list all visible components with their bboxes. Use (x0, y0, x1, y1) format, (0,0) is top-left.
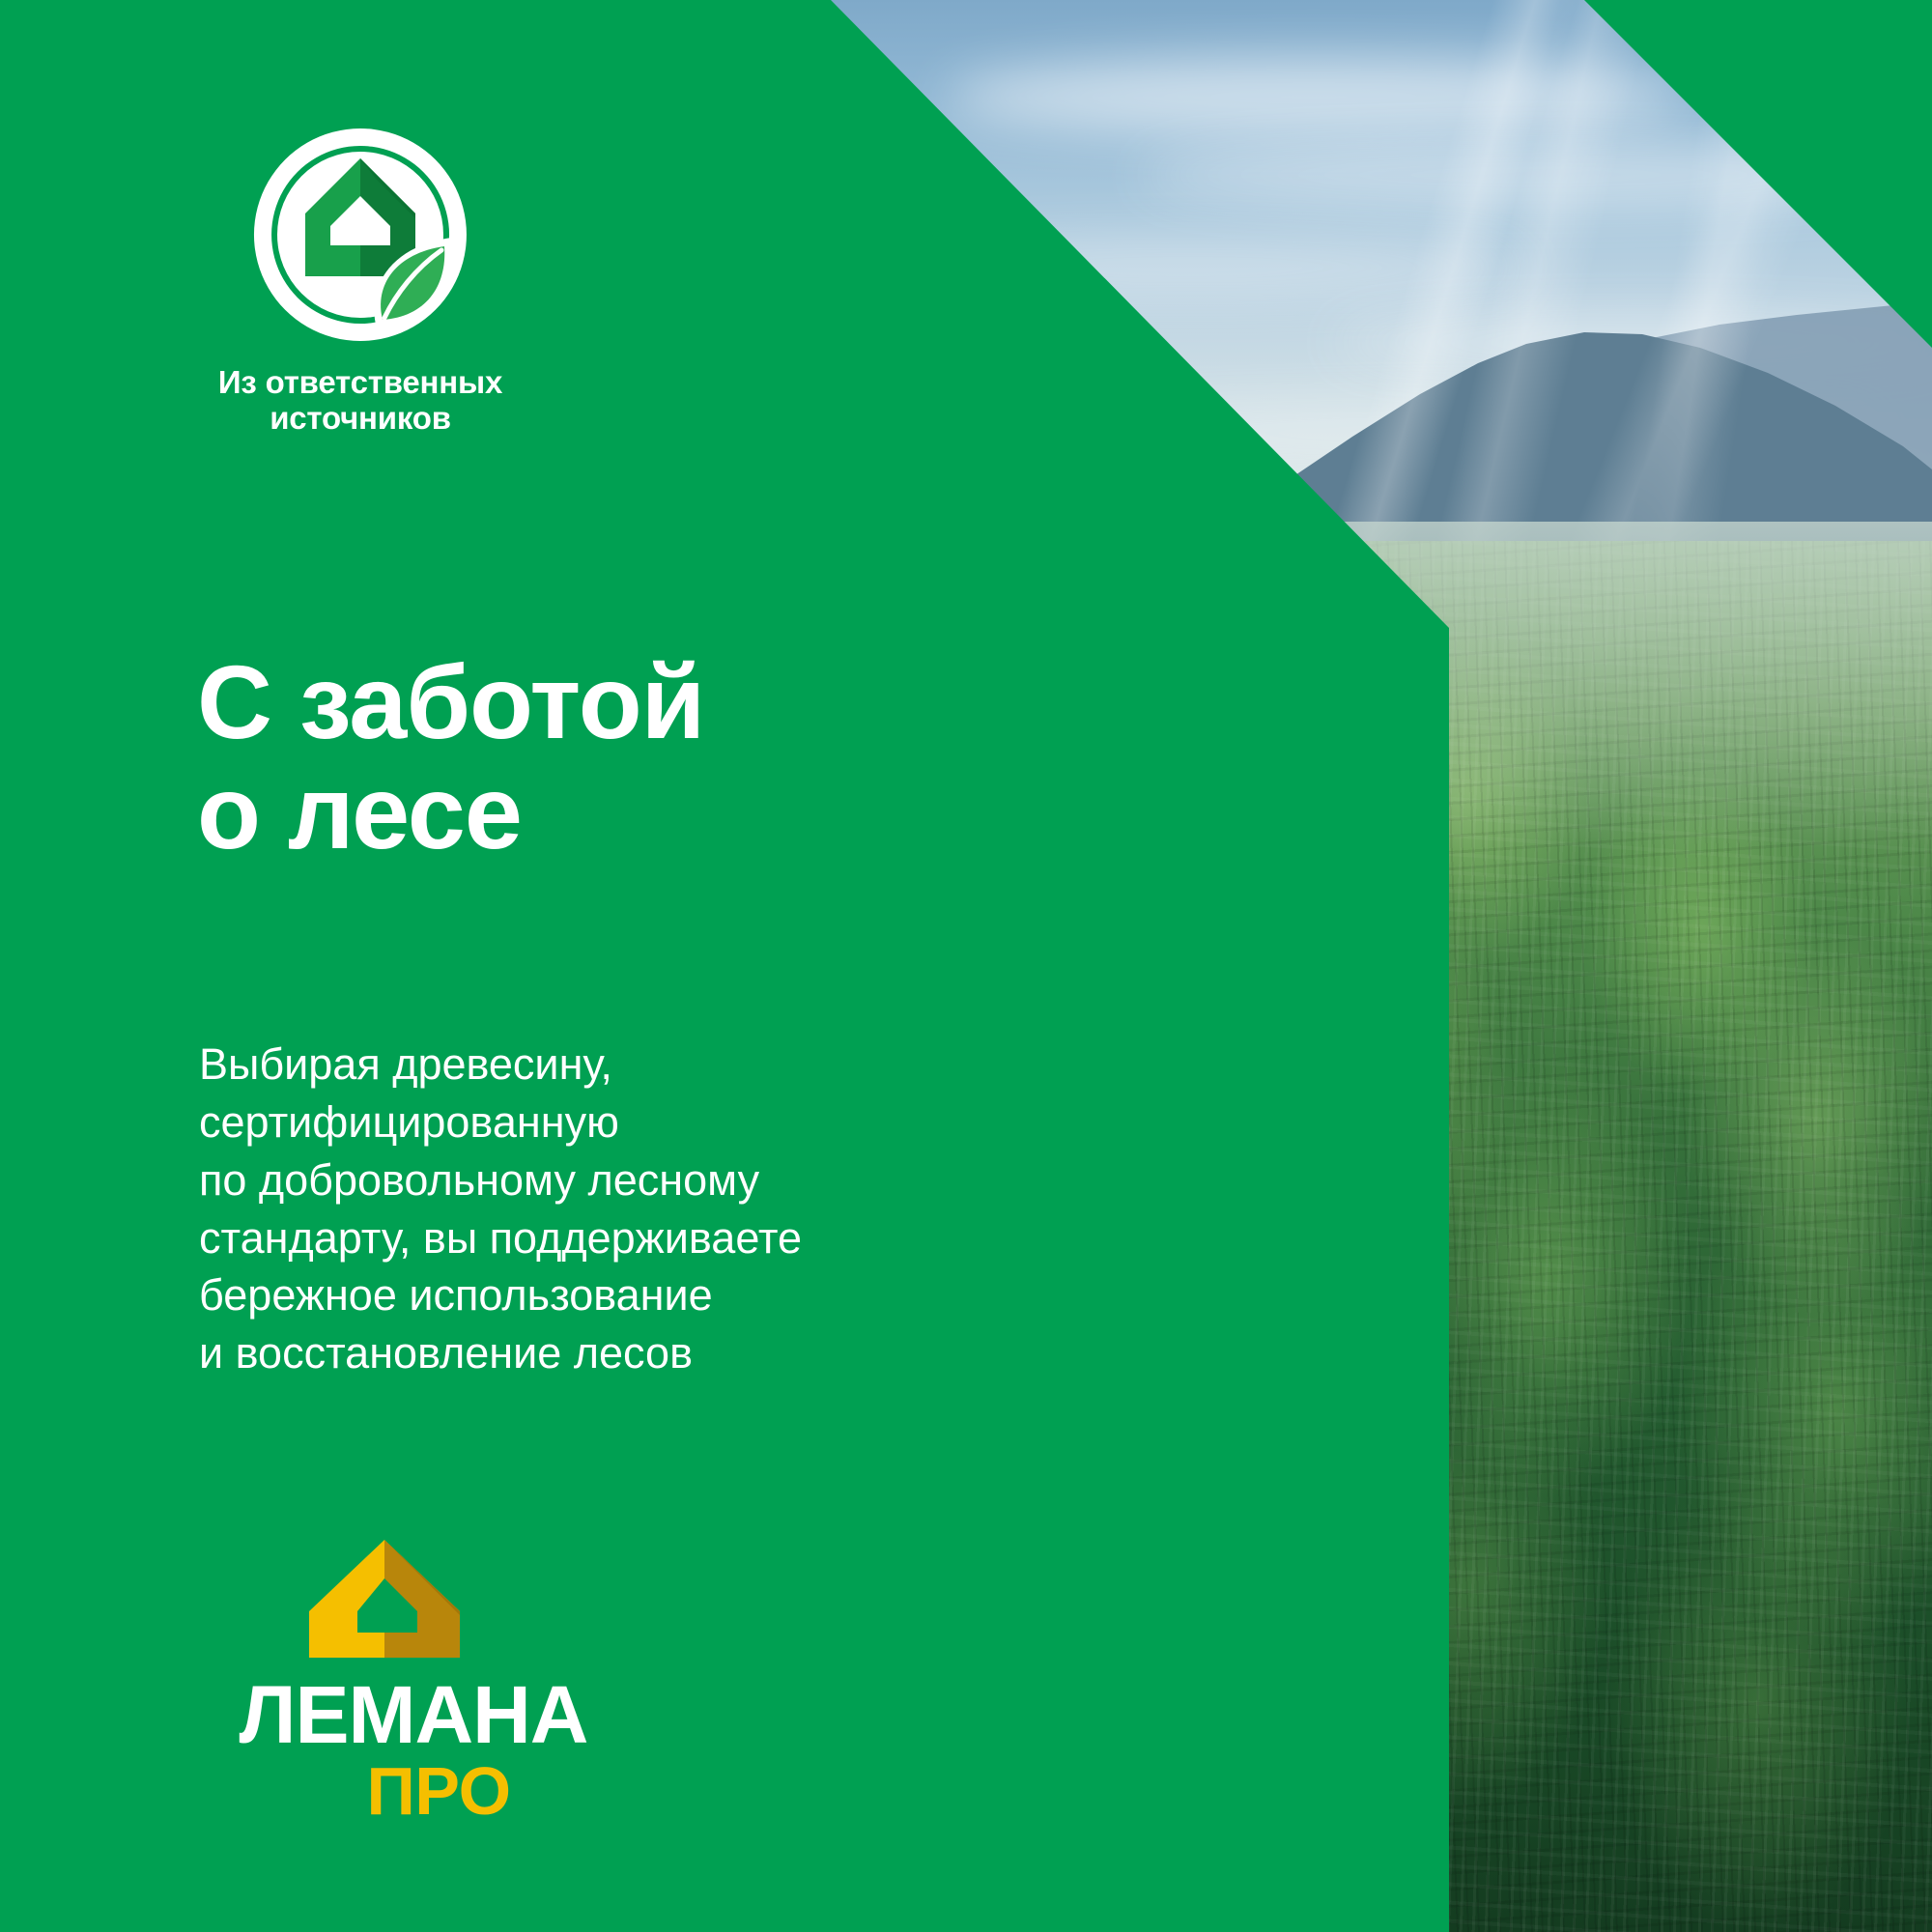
brand-name: ЛЕМАНА (211, 1677, 616, 1753)
body-text: Выбирая древесину, сертифицированную по … (199, 1036, 802, 1382)
poster-content: Из ответственных источников С заботой о … (0, 0, 1932, 1932)
house-leaf-circle-icon (249, 124, 471, 346)
poster-root: Из ответственных источников С заботой о … (0, 0, 1932, 1932)
page-title: С заботой о лесе (197, 647, 704, 868)
eco-badge: Из ответственных источников (249, 124, 481, 437)
brand-logo: ЛЕМАНА ПРО (211, 1536, 616, 1825)
brand-suffix: ПРО (211, 1757, 616, 1825)
lemana-house-icon (298, 1536, 471, 1662)
eco-badge-caption: Из ответственных источников (201, 365, 520, 437)
